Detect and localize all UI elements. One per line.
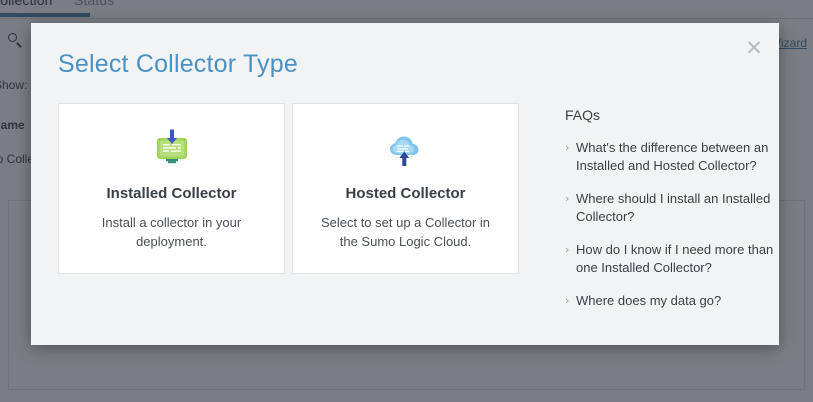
faq-item-label: How do I know if I need more than one In…	[576, 241, 779, 277]
select-collector-type-dialog: ✕ Select Collector Type	[31, 23, 779, 345]
faq-item-label: What's the difference between an Install…	[576, 139, 779, 175]
card-hosted-collector-description: Select to set up a Collector in the Sumo…	[313, 213, 499, 251]
card-hosted-collector-title: Hosted Collector	[345, 185, 465, 202]
close-icon[interactable]: ✕	[741, 35, 767, 61]
faqs-heading: FAQs	[565, 107, 779, 123]
chevron-right-icon: ›	[565, 292, 576, 310]
card-installed-collector[interactable]: Installed Collector Install a collector …	[58, 103, 285, 274]
faqs-panel: FAQs › What's the difference between an …	[565, 103, 779, 325]
card-hosted-collector[interactable]: Hosted Collector Select to set up a Coll…	[292, 103, 519, 274]
faq-item[interactable]: › How do I know if I need more than one …	[565, 241, 779, 277]
installed-collector-monitor-icon	[148, 129, 196, 171]
screen-root: Collection Status Search Show: All Name …	[0, 0, 813, 402]
chevron-right-icon: ›	[565, 190, 576, 208]
faq-item[interactable]: › Where should I install an Installed Co…	[565, 190, 779, 226]
card-installed-collector-description: Install a collector in your deployment.	[79, 213, 265, 251]
chevron-right-icon: ›	[565, 241, 576, 259]
faq-item-label: Where should I install an Installed Coll…	[576, 190, 779, 226]
chevron-right-icon: ›	[565, 139, 576, 157]
card-installed-collector-title: Installed Collector	[106, 185, 236, 202]
faq-item[interactable]: › What's the difference between an Insta…	[565, 139, 779, 175]
dialog-body: Installed Collector Install a collector …	[58, 103, 779, 325]
faq-item-label: Where does my data go?	[576, 292, 721, 310]
dialog-title: Select Collector Type	[58, 50, 298, 79]
collector-type-cards: Installed Collector Install a collector …	[58, 103, 519, 274]
hosted-collector-cloud-icon	[382, 129, 430, 171]
faq-item[interactable]: › Where does my data go?	[565, 292, 779, 310]
